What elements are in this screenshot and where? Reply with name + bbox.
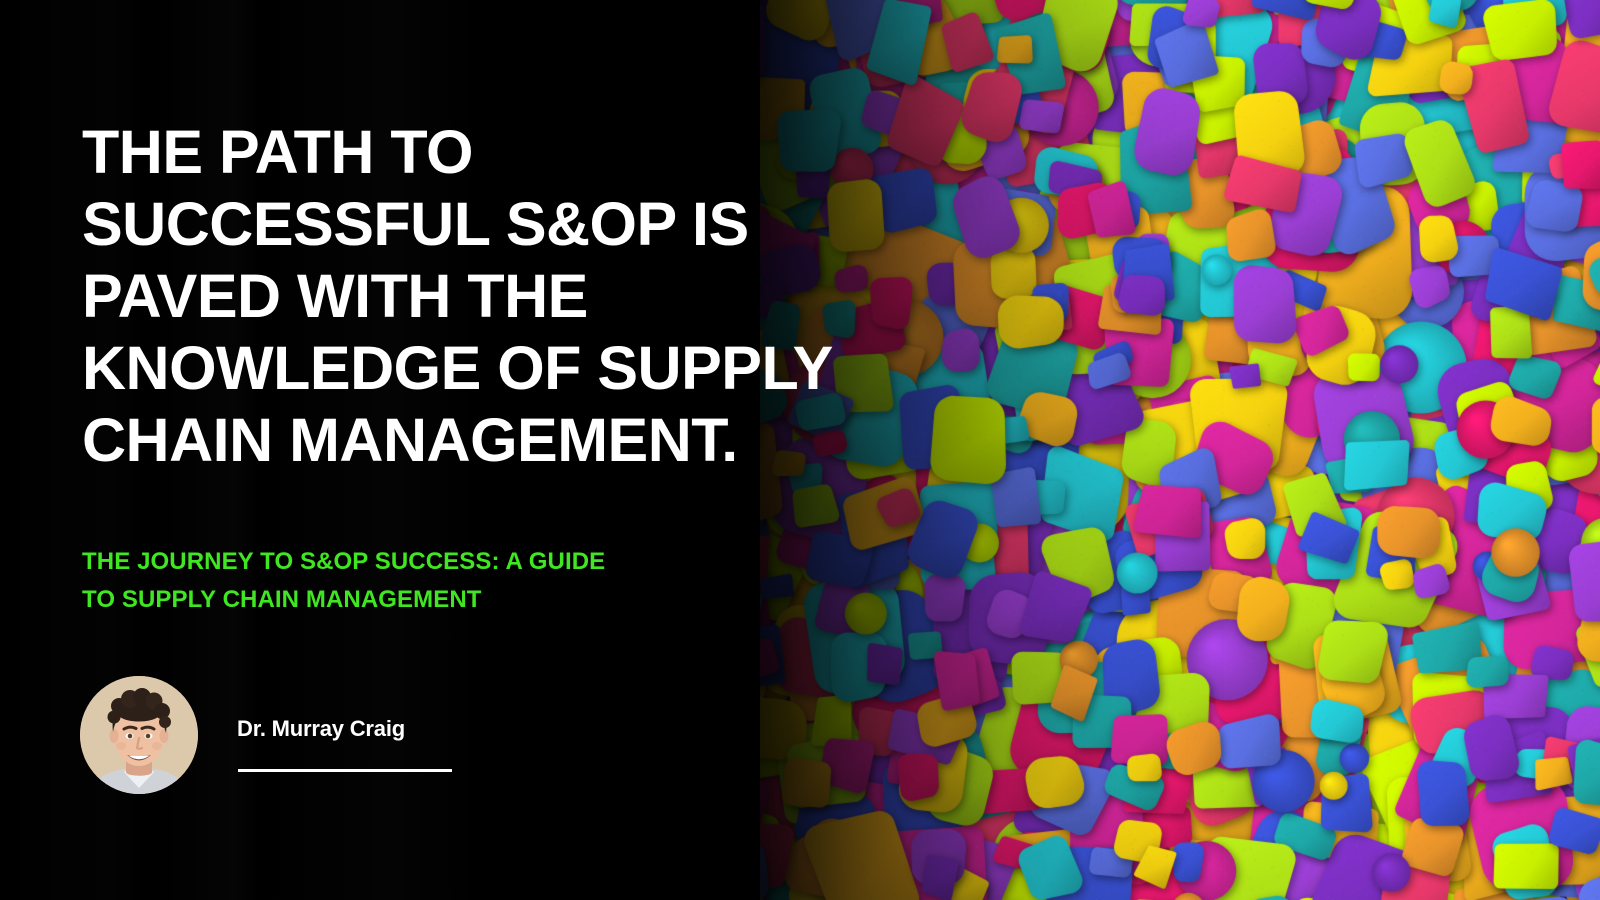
byline: Dr. Murray Craig (80, 676, 540, 800)
author-name: Dr. Murray Craig (237, 716, 405, 742)
text-column: THE PATH TO SUCCESSFUL S&OP IS PAVED WIT… (0, 0, 900, 900)
page-title: THE PATH TO SUCCESSFUL S&OP IS PAVED WIT… (82, 116, 902, 476)
avatar (80, 676, 198, 794)
title-card: THE PATH TO SUCCESSFUL S&OP IS PAVED WIT… (0, 0, 1600, 900)
avatar-portrait-illustration (80, 676, 198, 794)
byline-divider (238, 769, 452, 772)
subtitle: THE JOURNEY TO S&OP SUCCESS: A GUIDE TO … (82, 543, 842, 619)
